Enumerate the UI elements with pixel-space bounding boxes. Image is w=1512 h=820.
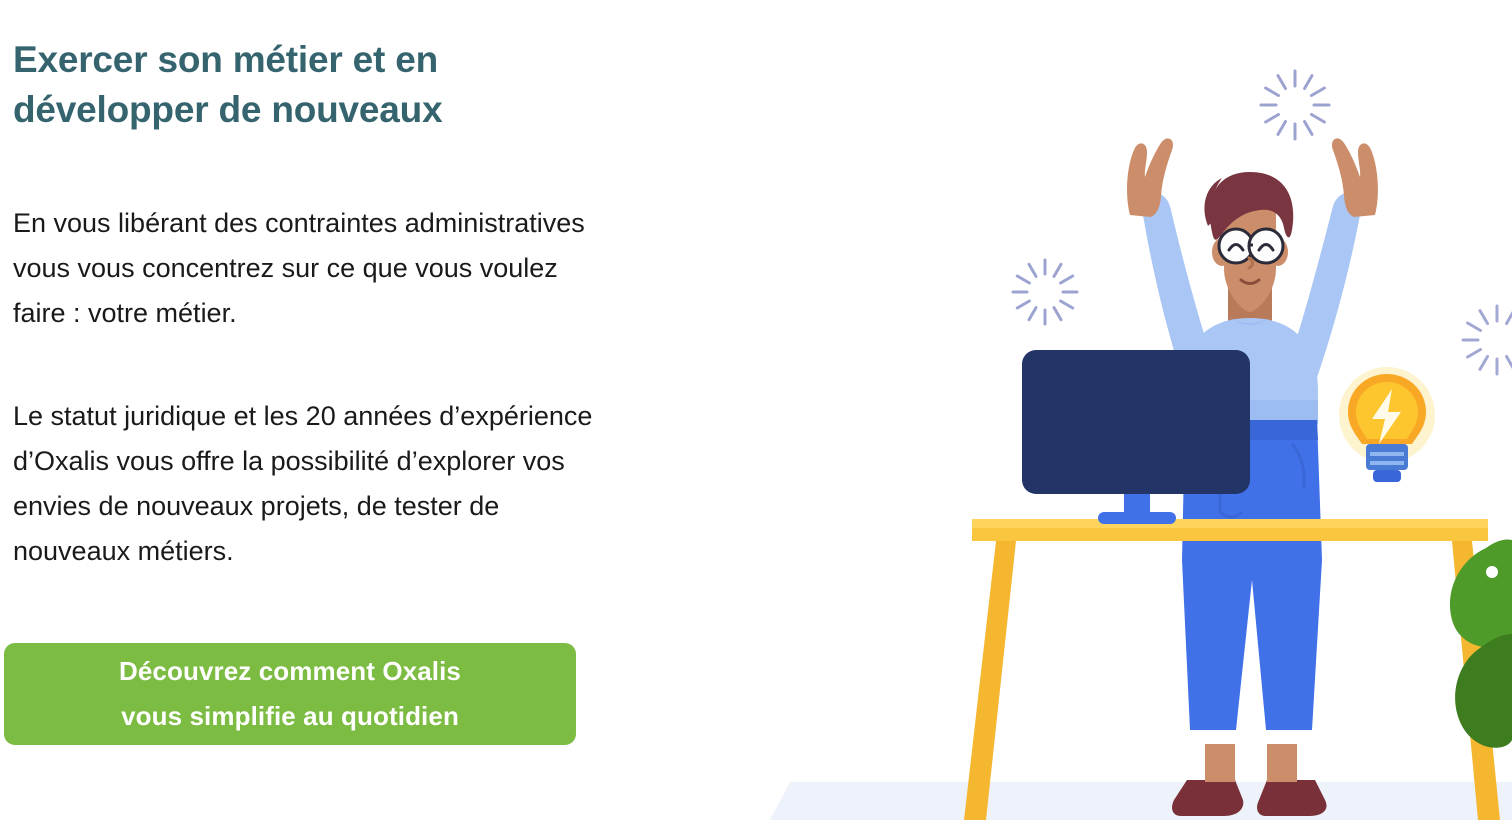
marketing-slide: Exercer son métier et en développer de n… (0, 0, 1512, 820)
page-title: Exercer son métier et en développer de n… (13, 35, 613, 135)
cta-label-line-1: Découvrez comment Oxalis (119, 649, 461, 694)
body-paragraph-2: Le statut juridique et les 20 années d’e… (13, 394, 613, 574)
page-title-line-2: développer de nouveaux (13, 85, 613, 135)
text-column: Exercer son métier et en développer de n… (0, 0, 700, 820)
sparkle-right-icon (1463, 306, 1512, 374)
lightbulb-icon (1339, 367, 1435, 482)
sparkle-left-icon (1013, 260, 1077, 324)
floor-band-icon (770, 782, 1512, 820)
sparkle-top-icon (1261, 71, 1329, 139)
page-title-line-1: Exercer son métier et en (13, 35, 613, 85)
discover-oxalis-button[interactable]: Découvrez comment Oxalis vous simplifie … (4, 643, 576, 745)
celebration-illustration (700, 0, 1512, 820)
cta-label-line-2: vous simplifie au quotidien (121, 694, 459, 739)
body-paragraph-1: En vous libérant des contraintes adminis… (13, 201, 613, 336)
person-head-icon (1204, 172, 1293, 330)
